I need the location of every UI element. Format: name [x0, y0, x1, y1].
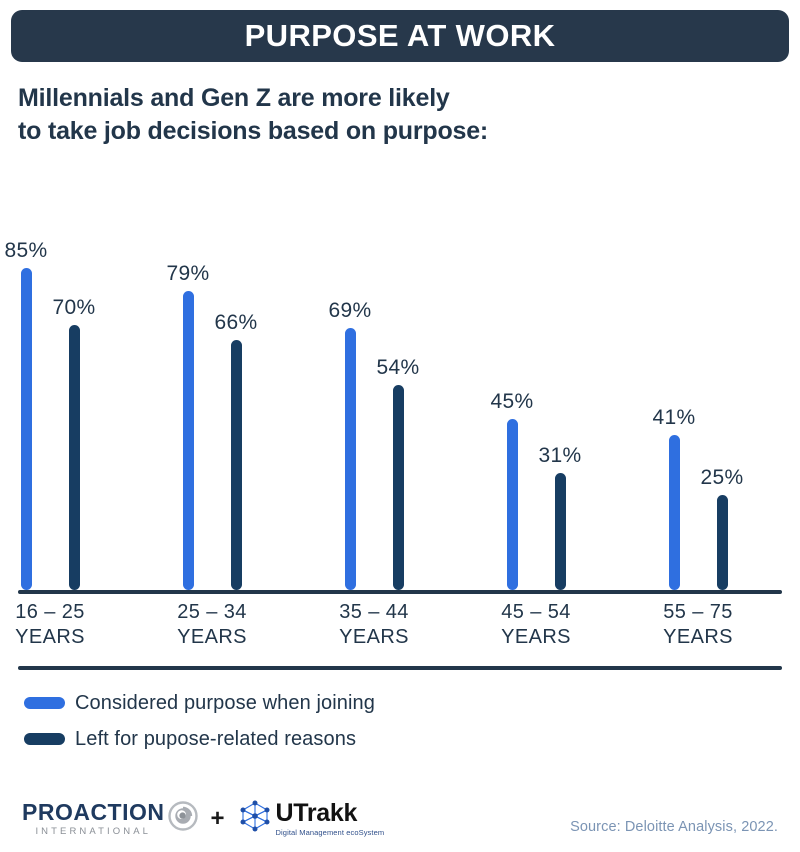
bar-chart: 85%70%79%66%69%54%45%31%41%25%	[0, 0, 800, 600]
plus-separator: +	[211, 807, 225, 831]
footer: PROACTION INTERNATIONAL +	[0, 795, 800, 852]
swirl-circle-icon	[168, 801, 198, 836]
legend-label: Left for pupose-related reasons	[75, 728, 356, 751]
bar-secondary[interactable]	[393, 385, 404, 590]
bar-value-label: 85%	[0, 239, 66, 263]
proaction-wordmark: PROACTION INTERNATIONAL	[22, 801, 165, 837]
category-unit: YEARS	[451, 625, 621, 650]
category-label: 25 – 34YEARS	[127, 600, 297, 650]
legend-label: Considered purpose when joining	[75, 692, 375, 715]
proaction-name: PROACTION	[22, 801, 165, 824]
category-range: 25 – 34	[127, 600, 297, 625]
bar-value-label: 25%	[682, 466, 762, 490]
bar-secondary[interactable]	[555, 473, 566, 590]
bar-secondary[interactable]	[717, 495, 728, 590]
legend-item[interactable]: Considered purpose when joining	[24, 688, 375, 718]
utrakk-wordmark: UTrakk Digital Management ecoSystem	[276, 801, 385, 837]
category-range: 55 – 75	[613, 600, 783, 625]
category-label: 45 – 54YEARS	[451, 600, 621, 650]
bar-value-label: 66%	[196, 311, 276, 335]
category-range: 45 – 54	[451, 600, 621, 625]
category-range: 16 – 25	[0, 600, 135, 625]
category-unit: YEARS	[0, 625, 135, 650]
category-unit: YEARS	[127, 625, 297, 650]
bar-value-label: 45%	[472, 390, 552, 414]
category-label: 16 – 25YEARS	[0, 600, 135, 650]
bar-value-label: 69%	[310, 299, 390, 323]
bar-value-label: 41%	[634, 406, 714, 430]
bar-primary[interactable]	[21, 268, 32, 590]
category-label: 35 – 44YEARS	[289, 600, 459, 650]
network-nodes-icon	[238, 799, 272, 838]
bar-secondary[interactable]	[231, 340, 242, 590]
utrakk-tagline: Digital Management ecoSystem	[276, 829, 385, 837]
proaction-tagline: INTERNATIONAL	[22, 827, 165, 837]
category-unit: YEARS	[289, 625, 459, 650]
bar-primary[interactable]	[345, 328, 356, 590]
logo-group: PROACTION INTERNATIONAL +	[22, 799, 384, 838]
bar-value-label: 31%	[520, 444, 600, 468]
bar-primary[interactable]	[507, 419, 518, 590]
bar-value-label: 79%	[148, 262, 228, 286]
axis-rule-top	[18, 590, 782, 594]
utrakk-name: UTrakk	[276, 801, 385, 826]
legend-swatch	[24, 733, 65, 745]
source-credit: Source: Deloitte Analysis, 2022.	[570, 819, 778, 835]
legend-item[interactable]: Left for pupose-related reasons	[24, 724, 375, 754]
bar-secondary[interactable]	[69, 325, 80, 590]
bar-primary[interactable]	[669, 435, 680, 590]
bar-value-label: 70%	[34, 296, 114, 320]
chart-legend: Considered purpose when joiningLeft for …	[24, 688, 375, 760]
axis-rule-bottom	[18, 666, 782, 670]
category-label: 55 – 75YEARS	[613, 600, 783, 650]
proaction-logo[interactable]: PROACTION INTERNATIONAL	[22, 801, 198, 837]
category-unit: YEARS	[613, 625, 783, 650]
category-range: 35 – 44	[289, 600, 459, 625]
bar-primary[interactable]	[183, 291, 194, 590]
bar-value-label: 54%	[358, 356, 438, 380]
legend-swatch	[24, 697, 65, 709]
utrakk-logo[interactable]: UTrakk Digital Management ecoSystem	[238, 799, 385, 838]
